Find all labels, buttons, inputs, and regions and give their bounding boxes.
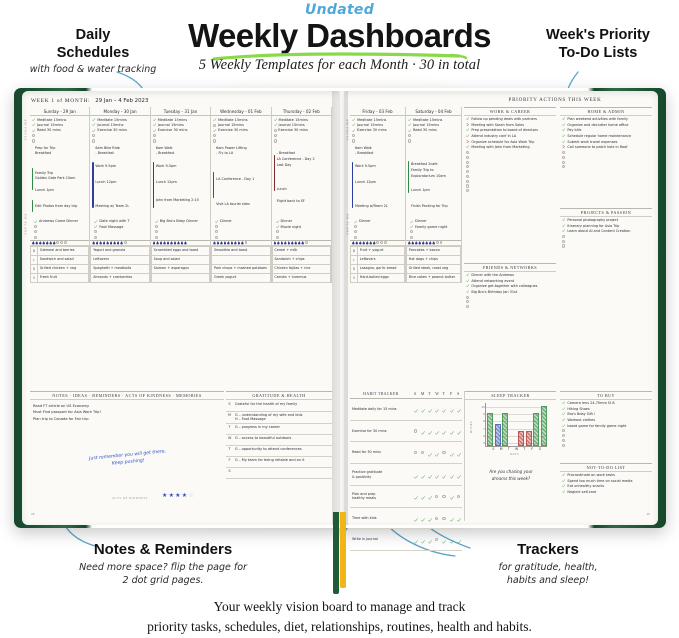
water-drop-empty[interactable] [380, 241, 383, 244]
priority-section-header: FRIENDS & NETWORKS [464, 263, 556, 272]
empty-checkbox[interactable] [562, 161, 565, 164]
habit-check-done[interactable] [448, 398, 455, 420]
meal-cell[interactable]: Greek yogurt [212, 273, 270, 282]
habit-check-done[interactable] [448, 529, 455, 551]
empty-checkbox[interactable] [32, 139, 35, 142]
water-drop-empty[interactable] [384, 241, 387, 244]
meal-cell[interactable]: Chicken fajitas + rice [272, 264, 330, 273]
habit-check-done[interactable] [440, 420, 447, 442]
check-icon [155, 220, 158, 223]
check-icon [428, 475, 432, 479]
empty-checkbox[interactable] [94, 236, 97, 239]
empty-checkbox[interactable] [276, 230, 279, 233]
water-drop-filled[interactable] [184, 241, 187, 244]
water-drop-filled[interactable] [46, 241, 49, 244]
habit-check-done[interactable] [419, 485, 426, 507]
water-drop-filled[interactable] [284, 241, 287, 244]
water-drop-filled[interactable] [362, 241, 365, 244]
habit-name[interactable]: Time with kids [350, 507, 412, 529]
water-drop-filled[interactable] [153, 241, 156, 244]
gratitude-entry[interactable]: G – understanding of my wife and kids H … [233, 411, 332, 423]
evening-checklist: Andrews Come Dinner [30, 218, 89, 240]
meal-cell[interactable]: Fruit + yogurt [358, 246, 405, 255]
habit-check-done[interactable] [412, 398, 419, 420]
schedule-timebar [92, 162, 93, 208]
empty-checkbox[interactable] [466, 175, 469, 178]
water-drop-empty[interactable] [436, 241, 439, 244]
meal-row: Soup and salad [151, 255, 209, 264]
meal-cell[interactable]: Fresh fruit [38, 273, 89, 282]
meal-cell[interactable]: Pork chops + mashed potatoes [212, 264, 270, 273]
check-icon [457, 409, 461, 413]
meal-row: Smoothie and toast [212, 246, 270, 255]
empty-checkbox[interactable] [435, 517, 438, 520]
water-drop-filled[interactable] [294, 241, 297, 244]
priority-item-label: Pay bills [567, 128, 581, 132]
habit-check-empty[interactable] [412, 420, 419, 442]
empty-checkbox[interactable] [466, 189, 469, 192]
water-drop-filled[interactable] [425, 241, 428, 244]
empty-checkbox[interactable] [414, 451, 417, 454]
empty-checkbox[interactable] [562, 165, 565, 168]
meal-cell[interactable]: Scrambled eggs and toast [151, 246, 209, 255]
habit-check-done[interactable] [426, 420, 433, 442]
meal-cell[interactable]: Sandwich + chips [272, 255, 330, 264]
water-drop-filled[interactable] [373, 241, 376, 244]
check-icon [276, 220, 279, 223]
empty-checkbox[interactable] [466, 180, 469, 183]
check-icon [32, 123, 35, 126]
chart-y-tick: 7 [483, 427, 485, 431]
star-icon[interactable]: ★ [182, 493, 187, 499]
to-buy-item-empty[interactable] [560, 443, 652, 448]
meal-cell[interactable]: Oatmeal and berries [38, 246, 89, 255]
habit-check-empty[interactable] [412, 442, 419, 464]
water-drop-filled[interactable] [110, 241, 113, 244]
habit-check-done[interactable] [412, 507, 419, 529]
habit-check-done[interactable] [426, 485, 433, 507]
water-drop-filled[interactable] [213, 241, 216, 244]
empty-checkbox[interactable] [153, 139, 156, 142]
meal-cell[interactable]: Spaghetti + meatballs [91, 264, 149, 273]
water-drop-filled[interactable] [277, 241, 280, 244]
check-icon [466, 279, 469, 282]
meal-cell[interactable]: Leftovers [91, 255, 149, 264]
empty-checkbox[interactable] [215, 236, 218, 239]
note-line: Plan trip to Canada for Fair trip [33, 416, 221, 422]
water-drop-filled[interactable] [113, 241, 116, 244]
habit-check-done[interactable] [433, 464, 440, 486]
empty-checkbox[interactable] [92, 134, 95, 137]
water-drop-empty[interactable] [305, 241, 308, 244]
schedule-event: John from Marketing 2:15 [156, 198, 199, 203]
empty-checkbox[interactable] [562, 434, 565, 437]
habit-check-done[interactable] [455, 507, 462, 529]
star-icon[interactable]: ★ [162, 493, 167, 499]
empty-checkbox[interactable] [442, 517, 445, 520]
acts-of-kindness-stars[interactable]: ★★★★☆ [162, 493, 194, 499]
empty-checkbox[interactable] [354, 225, 357, 228]
priority-item-label: Schedule regular home maintenance [567, 134, 631, 138]
gratitude-entry[interactable]: G – access to beautiful outdoors [233, 434, 332, 445]
gratitude-entry[interactable] [233, 467, 332, 478]
habit-name[interactable]: Practice gratitude & positivity [350, 464, 412, 486]
priority-item-empty[interactable] [464, 188, 556, 193]
water-drop-filled[interactable] [103, 241, 106, 244]
callout-priority-todo: Week's Priority To-Do Lists [528, 26, 668, 62]
water-drop-filled[interactable] [241, 241, 244, 244]
empty-checkbox[interactable] [92, 139, 95, 142]
not-to-do-list: Procrastinate on work tasksSpend too muc… [560, 472, 652, 495]
meal-cell[interactable]: Grilled chicken + veg [38, 264, 89, 273]
check-icon [450, 540, 454, 544]
meal-cell[interactable]: Grilled steak, roast veg [407, 264, 461, 273]
habit-check-done[interactable] [448, 420, 455, 442]
empty-checkbox[interactable] [213, 139, 216, 142]
water-drop-filled[interactable] [35, 241, 38, 244]
water-drop-filled[interactable] [117, 241, 120, 244]
water-drop-filled[interactable] [53, 241, 56, 244]
meal-cell[interactable]: Soup and salad [151, 255, 209, 264]
priority-actions-header: PRIORITY ACTIONS THIS WEEK [460, 98, 650, 103]
meal-cell[interactable]: Hard-boiled eggs [358, 273, 405, 282]
habit-check-empty[interactable] [433, 485, 440, 507]
water-drop-filled[interactable] [231, 241, 234, 244]
checklist-label: Dinner [220, 219, 232, 223]
meal-table: Cereal + milkSandwich + chipsChicken faj… [272, 246, 331, 283]
water-drop-filled[interactable] [411, 241, 414, 244]
habit-check-empty[interactable] [419, 442, 426, 464]
empty-checkbox[interactable] [34, 230, 37, 233]
water-drop-empty[interactable] [245, 241, 248, 244]
check-icon [466, 290, 469, 293]
not-to-do-item[interactable]: Neglect self-care [560, 489, 652, 495]
water-drop-filled[interactable] [39, 241, 42, 244]
empty-checkbox[interactable] [274, 134, 277, 137]
habit-check-done[interactable] [448, 442, 455, 464]
priority-item-empty[interactable] [464, 304, 556, 309]
sleep-bar[interactable] [495, 424, 501, 446]
empty-checkbox[interactable] [435, 538, 438, 541]
habit-name[interactable]: Plan and prep healthy meals [350, 485, 412, 507]
habit-check-empty[interactable] [455, 485, 462, 507]
check-icon [466, 145, 469, 148]
water-drop-filled[interactable] [224, 241, 227, 244]
meal-cell[interactable]: Lasagna, garlic bread [358, 264, 405, 273]
empty-checkbox[interactable] [562, 240, 565, 243]
empty-checkbox[interactable] [466, 296, 469, 299]
check-icon [34, 220, 37, 223]
star-icon[interactable]: ☆ [188, 493, 193, 499]
meal-cell[interactable]: Cereal + milk [272, 246, 330, 255]
habit-check-done[interactable] [455, 529, 462, 551]
habit-check-done[interactable] [419, 507, 426, 529]
empty-checkbox[interactable] [466, 305, 469, 308]
water-drop-filled[interactable] [99, 241, 102, 244]
habit-check-done[interactable] [448, 464, 455, 486]
priority-item-empty[interactable] [560, 244, 652, 249]
eyebrow-undated: Undated [0, 2, 679, 18]
empty-checkbox[interactable] [466, 165, 469, 168]
meal-cell[interactable]: Pancakes + bacon [407, 246, 461, 255]
water-drop-filled[interactable] [42, 241, 45, 244]
water-drop-filled[interactable] [415, 241, 418, 244]
meal-cell[interactable]: Leftovers [358, 255, 405, 264]
empty-checkbox[interactable] [354, 236, 357, 239]
habit-check-done[interactable] [433, 442, 440, 464]
habit-check-done[interactable] [448, 507, 455, 529]
water-drop-filled[interactable] [429, 241, 432, 244]
habit-check-done[interactable] [419, 398, 426, 420]
notes-section-header: NOTES · IDEAS · REMINDERS · ACTS OF KIND… [30, 391, 224, 400]
habit-name[interactable]: Read for 30 mins [350, 442, 412, 464]
meal-cell[interactable]: Hot dogs + chips [407, 255, 461, 264]
water-drop-filled[interactable] [281, 241, 284, 244]
habit-check-done[interactable] [433, 420, 440, 442]
meal-cell[interactable] [212, 255, 270, 264]
callout-notes-reminders: Notes & Reminders Need more space? flip … [58, 541, 268, 587]
empty-checkbox[interactable] [34, 225, 37, 228]
gratitude-entry[interactable]: Grateful for the health of my family [233, 400, 332, 411]
water-drop-empty[interactable] [124, 241, 127, 244]
habit-check-done[interactable] [412, 464, 419, 486]
empty-checkbox[interactable] [408, 139, 411, 142]
water-drop-empty[interactable] [56, 241, 59, 244]
water-drop-filled[interactable] [288, 241, 291, 244]
chart-x-tick: S [492, 447, 494, 451]
water-drop-empty[interactable] [60, 241, 63, 244]
priority-section-header: PROJECTS & PASSION [560, 208, 652, 217]
empty-checkbox[interactable] [215, 230, 218, 233]
empty-checkbox[interactable] [562, 244, 565, 247]
habit-name[interactable]: Exercise for 30 mins [350, 420, 412, 442]
empty-checkbox[interactable] [562, 429, 565, 432]
day-column-header: Saturday - 04 Feb [406, 107, 461, 116]
empty-checkbox[interactable] [410, 230, 413, 233]
habit-check-done[interactable] [440, 529, 447, 551]
habit-check-empty[interactable] [440, 507, 447, 529]
empty-checkbox[interactable] [414, 429, 417, 432]
week-of-month-header: WEEK 1 of MONTH:29 Jan – 4 Feb 2023 [31, 98, 148, 104]
habit-check-done[interactable] [426, 464, 433, 486]
habit-check-done[interactable] [455, 442, 462, 464]
meal-cell[interactable]: Sandwich and salad [38, 255, 89, 264]
empty-checkbox[interactable] [34, 236, 37, 239]
empty-checkbox[interactable] [354, 230, 357, 233]
empty-checkbox[interactable] [408, 134, 411, 137]
water-drop-filled[interactable] [49, 241, 52, 244]
meal-cell[interactable]: Salmon + asparagus [151, 264, 209, 273]
star-icon[interactable]: ★ [169, 493, 174, 499]
checklist-label: Exercise 30 mins [218, 128, 248, 132]
empty-checkbox[interactable] [276, 236, 279, 239]
water-drop-filled[interactable] [160, 241, 163, 244]
empty-checkbox[interactable] [562, 151, 565, 154]
habit-name[interactable]: Write in journal [350, 529, 412, 551]
meal-cell[interactable]: Carrots + hummus [272, 273, 330, 282]
empty-checkbox[interactable] [155, 230, 158, 233]
habit-check-done[interactable] [419, 420, 426, 442]
check-icon [450, 409, 454, 413]
water-drop-filled[interactable] [32, 241, 35, 244]
habit-check-done[interactable] [419, 464, 426, 486]
check-icon [414, 475, 418, 479]
schedule-event: - Breakfast [355, 151, 373, 156]
chart-y-tick: 8 [483, 419, 485, 423]
meal-cell[interactable] [151, 273, 209, 282]
sleep-bar[interactable] [502, 413, 508, 446]
sleep-bar[interactable] [533, 413, 539, 446]
empty-checkbox[interactable] [466, 184, 469, 187]
empty-checkbox[interactable] [466, 161, 469, 164]
habit-check-done[interactable] [426, 442, 433, 464]
schedule-event: Visit LA tourist sites [216, 202, 250, 207]
sleep-bar[interactable] [518, 431, 524, 446]
gratitude-entry[interactable]: G – progress in my career [233, 423, 332, 434]
check-icon [153, 129, 156, 132]
water-drop-filled[interactable] [355, 241, 358, 244]
schedule-event: Meeting w/ Team 2L [95, 204, 129, 209]
sleep-bar[interactable] [487, 413, 493, 446]
empty-checkbox[interactable] [410, 236, 413, 239]
notes-body[interactable]: Read FT article on US EconomyMust Find p… [30, 400, 224, 504]
empty-checkbox[interactable] [562, 444, 565, 447]
water-drop-filled[interactable] [408, 241, 411, 244]
checklist-label: Read 30 mins [37, 128, 61, 132]
meal-row: BOatmeal and berries [31, 246, 89, 255]
habit-check-done[interactable] [455, 398, 462, 420]
meal-cell[interactable]: Almonds + cranberries [91, 273, 149, 282]
water-drop-empty[interactable] [440, 241, 443, 244]
not-to-do-section: NOT-TO-DO LISTProcrastinate on work task… [560, 463, 652, 495]
meal-cell[interactable]: Yogurt and granola [91, 246, 149, 255]
empty-checkbox[interactable] [457, 495, 460, 498]
empty-checkbox[interactable] [32, 134, 35, 137]
water-drop-filled[interactable] [369, 241, 372, 244]
empty-checkbox[interactable] [421, 451, 424, 454]
empty-checkbox[interactable] [352, 134, 355, 137]
priority-item-label: Prep presentation to board of directors [471, 128, 538, 132]
habit-check-empty[interactable] [433, 529, 440, 551]
habit-check-done[interactable] [440, 398, 447, 420]
water-drop-filled[interactable] [366, 241, 369, 244]
habit-check-done[interactable] [426, 529, 433, 551]
empty-checkbox[interactable] [466, 300, 469, 303]
water-drop-filled[interactable] [217, 241, 220, 244]
habit-check-done[interactable] [412, 485, 419, 507]
empty-checkbox[interactable] [155, 236, 158, 239]
water-drop-filled[interactable] [298, 241, 301, 244]
check-icon [94, 220, 97, 223]
water-drop-filled[interactable] [156, 241, 159, 244]
habit-check-done[interactable] [419, 529, 426, 551]
empty-checkbox[interactable] [155, 225, 158, 228]
gratitude-entry[interactable]: G – My team for being reliable and on it [233, 456, 332, 467]
habit-check-done[interactable] [455, 464, 462, 486]
water-drop-filled[interactable] [106, 241, 109, 244]
water-drop-filled[interactable] [220, 241, 223, 244]
callout-daily-sub: with food & water tracking [18, 64, 168, 77]
empty-checkbox[interactable] [215, 225, 218, 228]
habit-check-empty[interactable] [440, 442, 447, 464]
habit-check-done[interactable] [455, 420, 462, 442]
water-drop-filled[interactable] [167, 241, 170, 244]
empty-checkbox[interactable] [213, 124, 216, 127]
chart-x-tick: F [531, 447, 533, 451]
habit-check-empty[interactable] [440, 485, 447, 507]
empty-checkbox[interactable] [466, 170, 469, 173]
gratitude-table: SGrateful for the health of my familyMG … [226, 400, 332, 479]
water-drop-filled[interactable] [92, 241, 95, 244]
water-drop-filled[interactable] [359, 241, 362, 244]
water-drop-empty[interactable] [376, 241, 379, 244]
water-drop-filled[interactable] [120, 241, 123, 244]
habit-check-done[interactable] [426, 398, 433, 420]
empty-checkbox[interactable] [442, 451, 445, 454]
water-drop-filled[interactable] [177, 241, 180, 244]
priority-item-empty[interactable] [560, 164, 652, 169]
motivational-quote: Just remember you will get there,Keep pu… [68, 446, 189, 472]
water-drop-filled[interactable] [432, 241, 435, 244]
water-drop-filled[interactable] [291, 241, 294, 244]
water-drop-filled[interactable] [96, 241, 99, 244]
empty-checkbox[interactable] [562, 439, 565, 442]
checklist-label: Andrews Come Dinner [39, 219, 78, 223]
water-drop-filled[interactable] [352, 241, 355, 244]
empty-checkbox[interactable] [562, 235, 565, 238]
habit-name[interactable]: Meditate daily for 15 mins [350, 398, 412, 420]
habit-check-done[interactable] [412, 529, 419, 551]
empty-checkbox[interactable] [562, 156, 565, 159]
meal-cell[interactable]: Rice cakes + peanut butter [407, 273, 461, 282]
gratitude-entry[interactable]: G – opportunity to attend conferences [233, 445, 332, 456]
sleep-bar[interactable] [526, 431, 532, 446]
water-drop-filled[interactable] [422, 241, 425, 244]
water-drop-filled[interactable] [238, 241, 241, 244]
check-icon [562, 401, 565, 404]
empty-checkbox[interactable] [153, 134, 156, 137]
empty-checkbox[interactable] [94, 230, 97, 233]
water-drop-filled[interactable] [163, 241, 166, 244]
empty-checkbox[interactable] [435, 495, 438, 498]
habit-check-done[interactable] [433, 398, 440, 420]
empty-checkbox[interactable] [213, 134, 216, 137]
star-icon[interactable]: ★ [175, 493, 180, 499]
empty-checkbox[interactable] [466, 156, 469, 159]
habit-check-done[interactable] [440, 464, 447, 486]
empty-checkbox[interactable] [352, 139, 355, 142]
meal-cell[interactable]: Smoothie and toast [212, 246, 270, 255]
water-drop-filled[interactable] [274, 241, 277, 244]
empty-checkbox[interactable] [466, 151, 469, 154]
water-drop-filled[interactable] [234, 241, 237, 244]
empty-checkbox[interactable] [442, 495, 445, 498]
empty-checkbox[interactable] [274, 129, 277, 132]
water-drop-filled[interactable] [174, 241, 177, 244]
sleep-bar[interactable] [541, 406, 547, 446]
habit-check-empty[interactable] [433, 507, 440, 529]
meal-table-wrap: Pancakes + baconHot dogs + chipsGrilled … [406, 246, 461, 283]
water-drop-filled[interactable] [227, 241, 230, 244]
water-drop-filled[interactable] [170, 241, 173, 244]
water-drop-empty[interactable] [64, 241, 67, 244]
empty-checkbox[interactable] [274, 139, 277, 142]
habit-check-done[interactable] [448, 485, 455, 507]
water-drop-filled[interactable] [181, 241, 184, 244]
water-drop-filled[interactable] [418, 241, 421, 244]
water-drop-filled[interactable] [301, 241, 304, 244]
habit-check-done[interactable] [426, 507, 433, 529]
